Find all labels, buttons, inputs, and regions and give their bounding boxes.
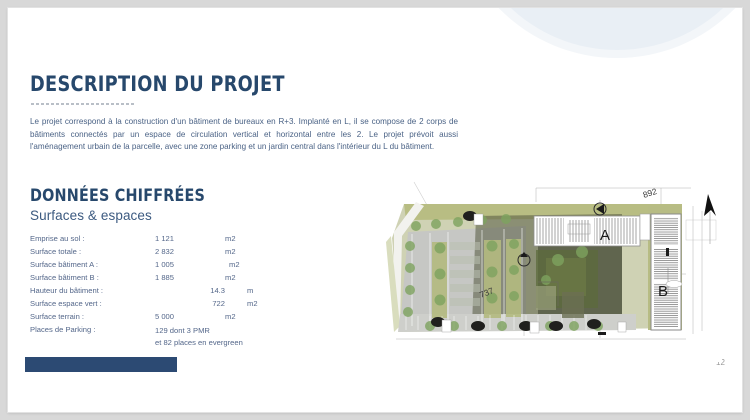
row-unit: m2 — [247, 299, 287, 308]
row-label: Places de Parking : — [30, 325, 155, 334]
row-label: Surface totale : — [30, 247, 155, 256]
arc-inner-fill — [462, 8, 742, 50]
decorative-arc — [442, 8, 742, 62]
page-title: DESCRIPTION DU PROJET — [30, 72, 285, 96]
row-unit: m2 — [225, 260, 269, 269]
slide: DESCRIPTION DU PROJET Le projet correspo… — [8, 8, 742, 412]
arc-outer-ring — [452, 8, 742, 58]
navy-accent-bar — [25, 357, 177, 372]
section-title-donnees-chiffrees: DONNÉES CHIFFRÉES — [30, 186, 205, 206]
site-plan-image: A B — [386, 176, 722, 362]
table-row: Surface bâtiment A : 1 005 m2 — [30, 260, 330, 273]
building-a-label: A — [600, 227, 610, 244]
table-row: Surface terrain : 5 000 m2 — [30, 312, 330, 325]
row-value: 1 005 — [155, 260, 225, 269]
parking-line-2: et 82 places en evergreen — [155, 338, 243, 347]
table-row: Surface bâtiment B : 1 885 m2 — [30, 273, 330, 286]
row-unit: m2 — [225, 273, 265, 282]
table-row: Surface totale : 2 832 m2 — [30, 247, 330, 260]
row-value: 5 000 — [155, 312, 225, 321]
row-label: Hauteur du bâtiment : — [30, 286, 155, 295]
row-value: 1 121 — [155, 234, 225, 243]
row-unit: m2 — [225, 247, 265, 256]
row-unit: m — [247, 286, 287, 295]
row-label: Surface bâtiment B : — [30, 273, 155, 282]
figures-table: Emprise au sol : 1 121 m2 Surface totale… — [30, 234, 330, 349]
row-value: 14.3 — [155, 286, 247, 295]
row-value: 722 — [155, 299, 247, 308]
row-label: Surface bâtiment A : — [30, 260, 155, 269]
row-value-multiline: 129 dont 3 PMR et 82 places en evergreen — [155, 325, 330, 348]
project-description-paragraph: Le projet correspond à la construction d… — [30, 116, 458, 154]
row-unit: m2 — [225, 234, 265, 243]
table-row: Hauteur du bâtiment : 14.3 m — [30, 286, 330, 299]
table-row-parking: Places de Parking : 129 dont 3 PMR et 82… — [30, 325, 330, 349]
title-dashed-divider — [31, 103, 136, 105]
table-row: Surface espace vert : 722 m2 — [30, 299, 330, 312]
parking-line-1: 129 dont 3 PMR — [155, 326, 210, 335]
row-label: Surface espace vert : — [30, 299, 155, 308]
table-row: Emprise au sol : 1 121 m2 — [30, 234, 330, 247]
row-label: Surface terrain : — [30, 312, 155, 321]
building-a: A — [534, 214, 650, 246]
section-subtitle-surfaces: Surfaces & espaces — [30, 208, 152, 223]
building-b: B — [651, 214, 681, 330]
row-label: Emprise au sol : — [30, 234, 155, 243]
row-value: 1 885 — [155, 273, 225, 282]
row-unit: m2 — [225, 312, 265, 321]
row-value: 2 832 — [155, 247, 225, 256]
